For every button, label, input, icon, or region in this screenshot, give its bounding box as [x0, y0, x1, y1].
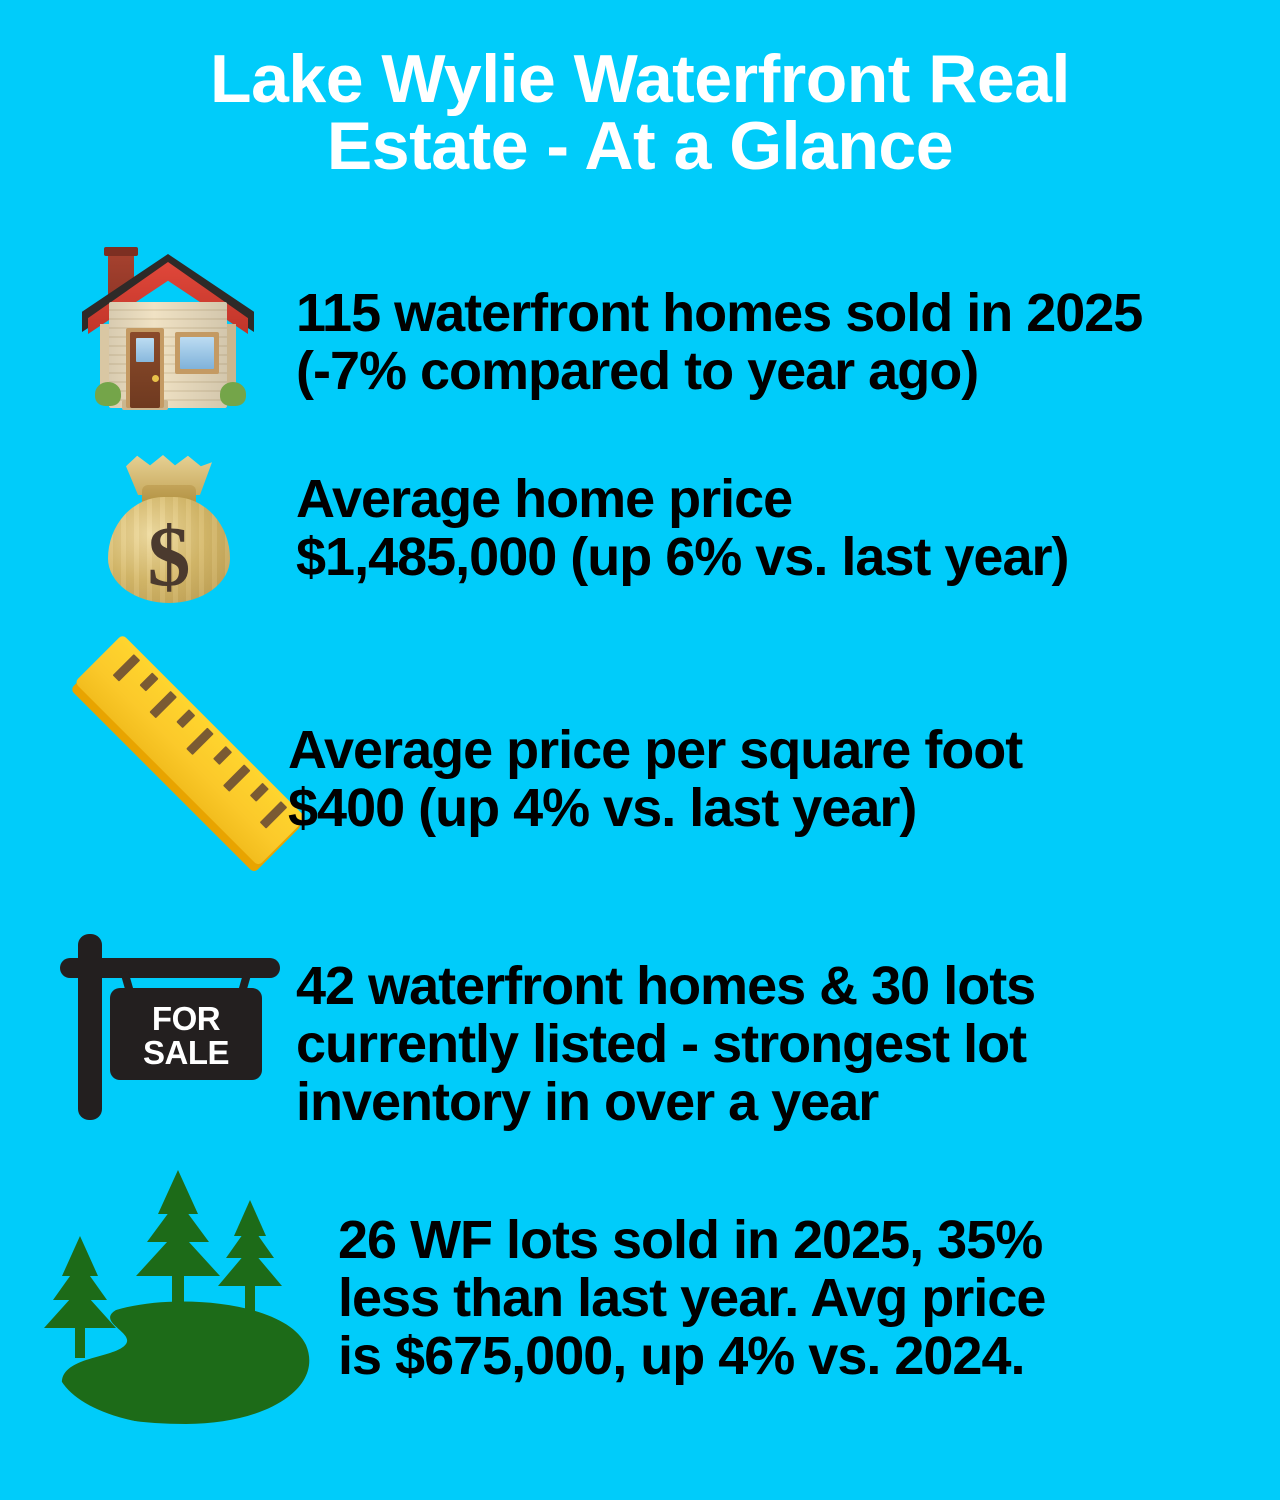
ruler-shape: [70, 634, 308, 872]
infographic-poster: Lake Wylie Waterfront Real Estate - At a…: [0, 0, 1280, 1500]
ruler-tick: [186, 728, 214, 756]
sign-post: [78, 934, 102, 1120]
house-door-window: [136, 338, 154, 362]
pine-tree-center: [136, 1170, 220, 1320]
tree-trunk: [75, 1324, 85, 1358]
stat-text-average-price: Average home price $1,485,000 (up 6% vs.…: [296, 471, 1256, 587]
tree-tier-top: [158, 1170, 198, 1214]
ruler-face: [74, 634, 306, 866]
trees-lot-icon: [40, 1170, 330, 1430]
house-chimney-cap: [104, 247, 138, 256]
house-bush-right: [220, 382, 246, 406]
house-window: [180, 337, 214, 369]
ruler-tick: [113, 654, 141, 682]
tree-tier-top: [62, 1236, 98, 1276]
sign-label-line2: SALE: [143, 1036, 229, 1070]
for-sale-sign-icon: FOR SALE: [56, 930, 286, 1130]
stat-text-homes-sold: 115 waterfront homes sold in 2025 (-7% c…: [296, 285, 1256, 401]
sign-label: FOR SALE: [110, 990, 262, 1082]
ruler-tick: [260, 801, 288, 829]
pine-tree-left: [44, 1236, 116, 1358]
money-bag-icon: $: [98, 455, 240, 605]
ruler-tick: [250, 783, 269, 802]
sign-label-line1: FOR: [152, 1002, 220, 1036]
stat-text-inventory: 42 waterfront homes & 30 lots currently …: [296, 958, 1256, 1131]
dollar-sign-glyph: $: [98, 513, 240, 599]
ruler-tick: [176, 709, 195, 728]
ruler-tick: [140, 672, 159, 691]
stat-text-price-per-sqft: Average price per square foot $400 (up 4…: [288, 722, 1268, 838]
house-icon: [78, 240, 258, 415]
page-title: Lake Wylie Waterfront Real Estate - At a…: [60, 46, 1220, 179]
ruler-icon: [36, 660, 306, 900]
ruler-tick: [149, 691, 177, 719]
tree-tier-top: [234, 1200, 266, 1236]
stat-text-lots-sold: 26 WF lots sold in 2025, 35% less than l…: [338, 1212, 1258, 1385]
ruler-tick: [213, 746, 232, 765]
ruler-tick: [223, 764, 251, 792]
pine-tree-right: [218, 1200, 282, 1318]
house-bush-left: [95, 382, 121, 406]
house-doorknob: [152, 375, 159, 382]
